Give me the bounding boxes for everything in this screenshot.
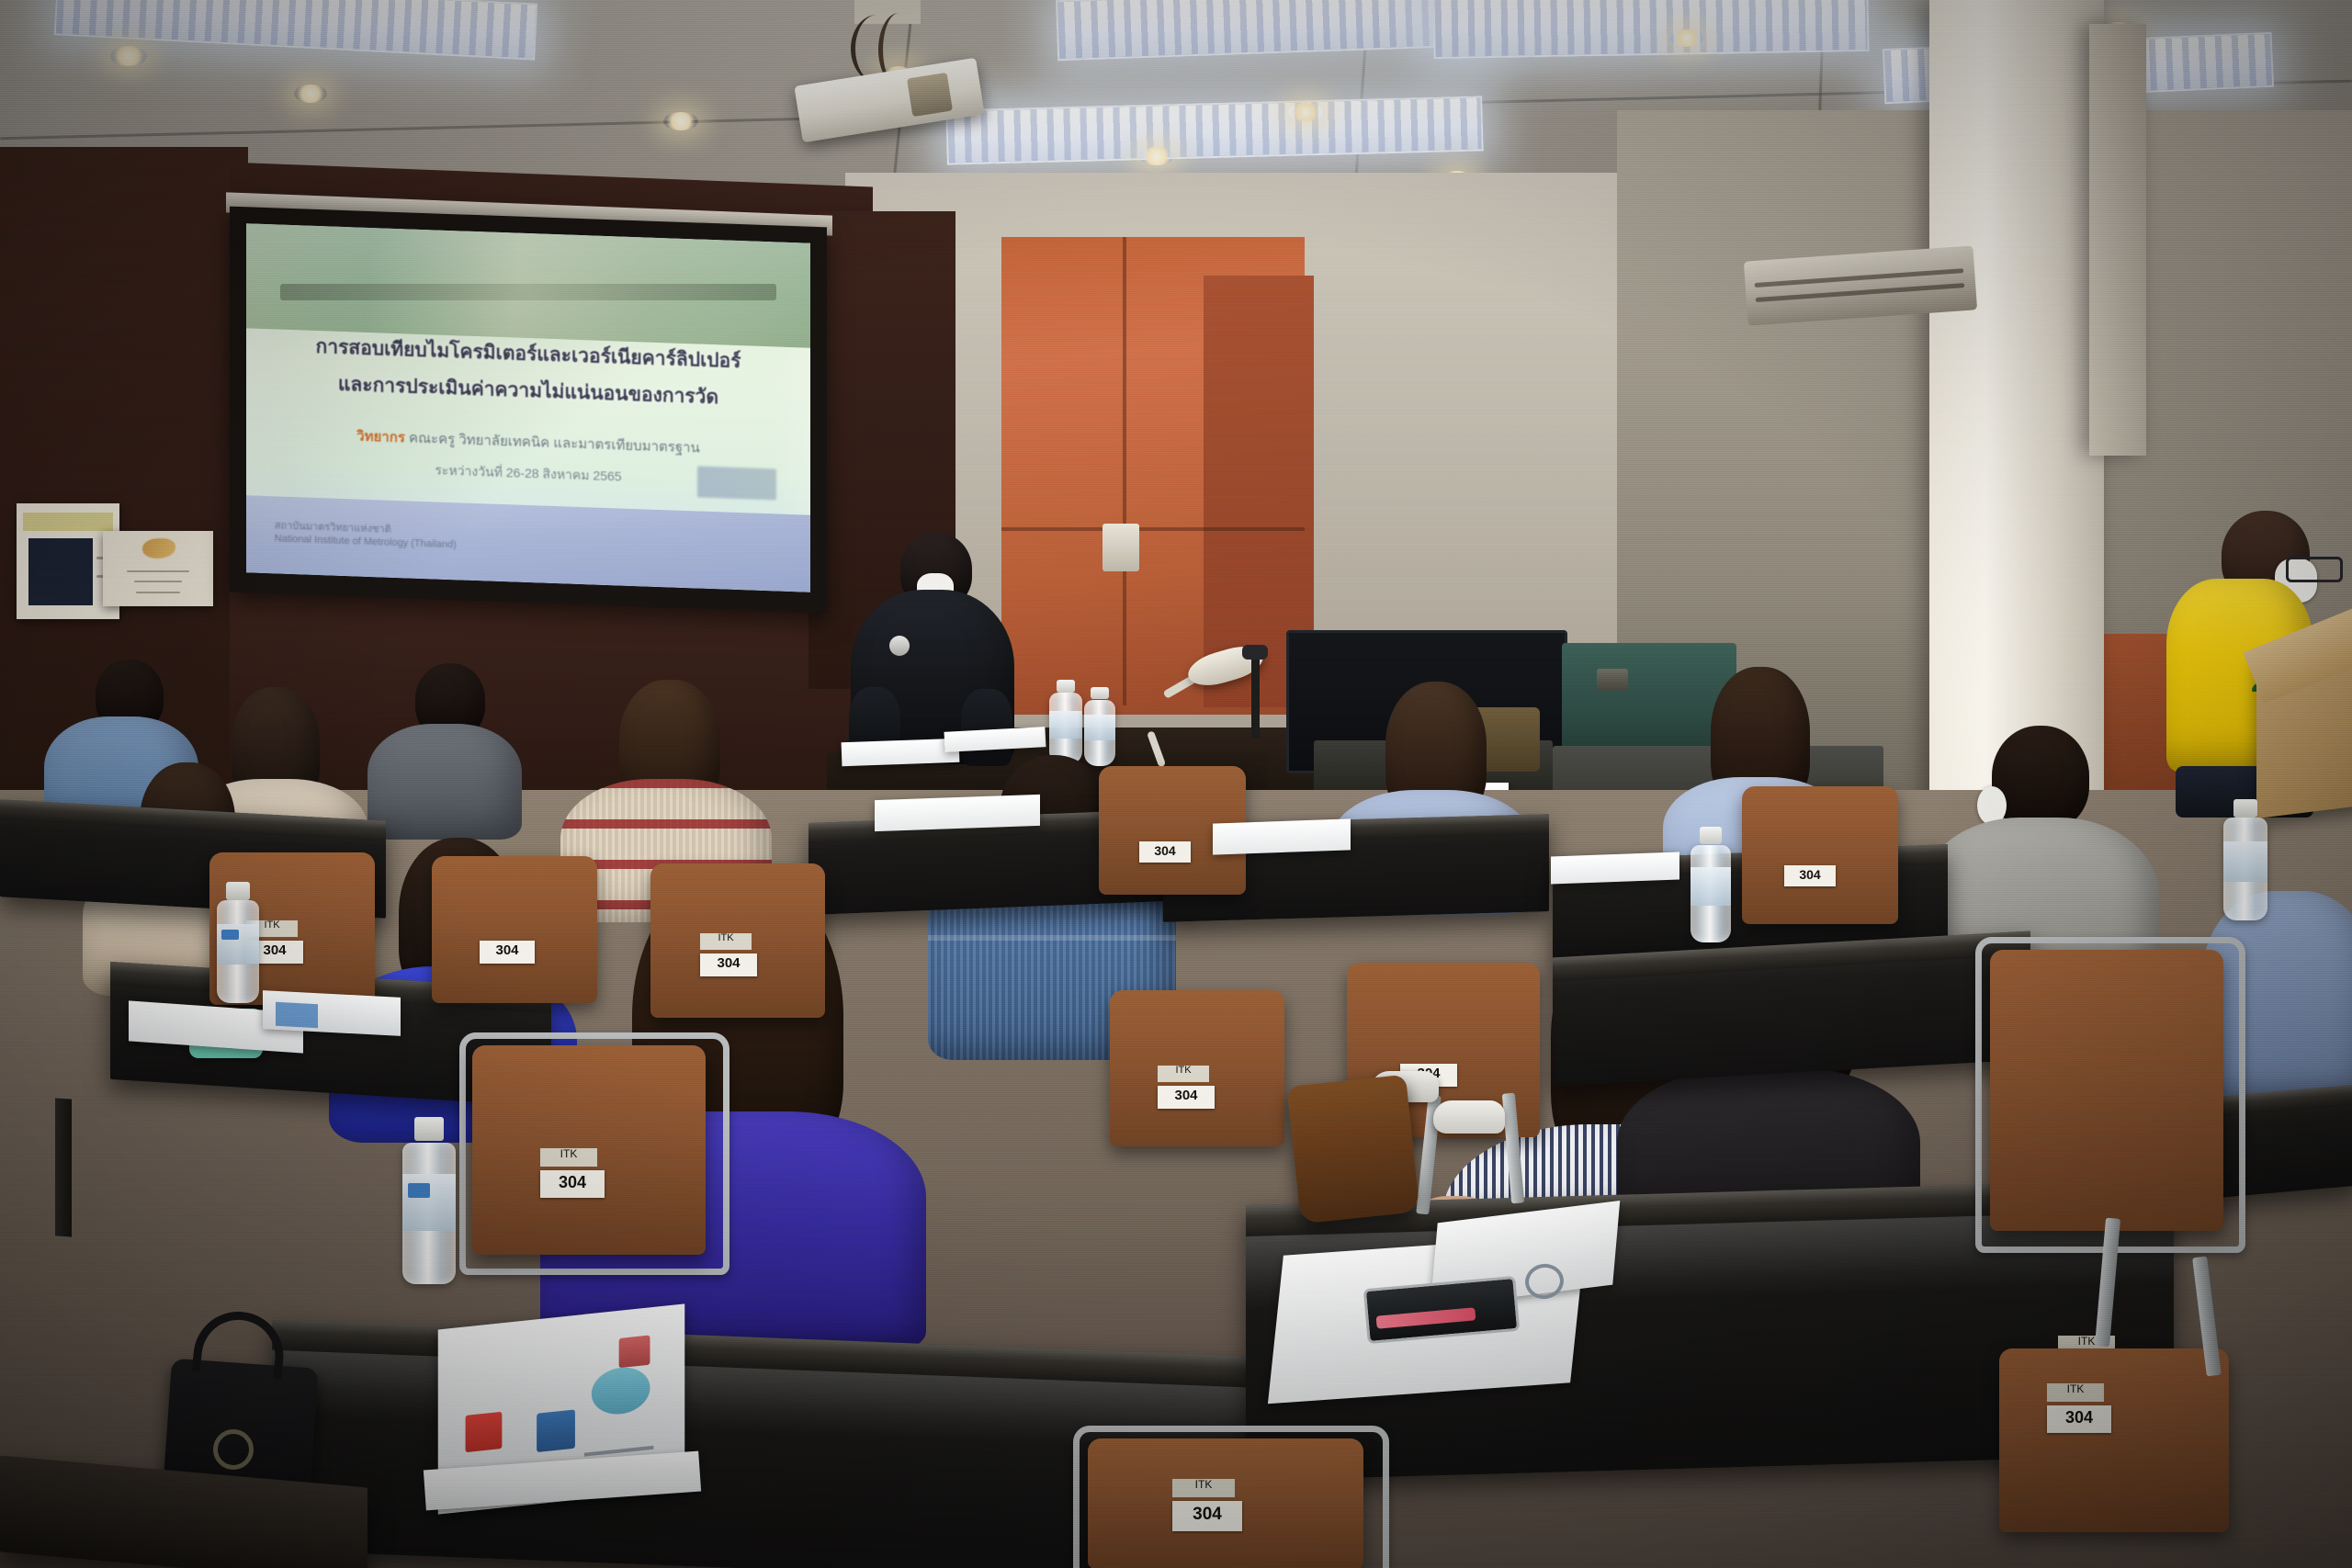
structural-column-edge [2089, 24, 2146, 456]
notebook-cover-accent [276, 1002, 318, 1028]
presenter-at-lectern [845, 533, 1020, 762]
staff-glasses-icon [2286, 557, 2343, 582]
wall-switch-box[interactable] [1102, 524, 1139, 571]
chair-tag-number: 304 [1784, 865, 1836, 886]
water-bottle[interactable] [1690, 827, 1731, 942]
projector-lens-housing [907, 73, 953, 117]
water-bottle[interactable] [402, 1117, 456, 1284]
attendee-head [1992, 726, 2089, 830]
water-bottle[interactable] [2223, 799, 2267, 920]
presenter-badge-icon [889, 636, 910, 656]
bottle-cap [226, 882, 250, 900]
water-bottle[interactable] [217, 882, 259, 1003]
bottle-label [1049, 711, 1082, 739]
desk-papers [875, 795, 1040, 831]
chair-tag-number: 304 [2047, 1405, 2111, 1433]
attendee-top [367, 724, 522, 840]
bottle-cap [2233, 799, 2258, 818]
panel-seam [1123, 237, 1126, 705]
chair-tag-number: 304 [1158, 1086, 1215, 1109]
notice-text-line [134, 581, 183, 582]
desk-papers [1213, 818, 1351, 854]
bottle-label-accent [408, 1183, 430, 1198]
handbook-logo-icon [537, 1409, 575, 1452]
ceiling-downlight [663, 112, 698, 130]
notice-photo [28, 538, 92, 605]
chair-tag-top: ITK [2047, 1383, 2104, 1402]
chair-front-center-right[interactable]: ITK 304 [1110, 990, 1284, 1146]
seminar-room-photo: การสอบเทียบไมโครมิเตอร์และเวอร์เนียคาร์ล… [0, 0, 2352, 1568]
bottle-cap [1700, 827, 1723, 844]
desk-papers [1551, 852, 1679, 885]
desk-mid-right [1553, 931, 2030, 1086]
chair-tag-top: ITK [1172, 1479, 1235, 1497]
chair-right[interactable]: ITK [1990, 950, 2223, 1231]
handbook-globe-icon [592, 1365, 650, 1417]
chair-mid-left[interactable]: ITK 304 [650, 863, 825, 1018]
ceiling-downlight [1288, 103, 1323, 121]
chair-tag-top: ITK [1158, 1066, 1209, 1082]
slide-header-photo [246, 223, 810, 347]
bottle-label [402, 1174, 456, 1231]
handbook-logo-icon [466, 1412, 503, 1452]
ceiling-light-panel [1432, 0, 1869, 59]
slide-speaker-detail: คณะครู วิทยาลัยเทคนิค และมาตรเทียบมาตรฐา… [409, 430, 700, 456]
ceiling-downlight [294, 85, 327, 103]
panel-seam [1001, 527, 1305, 531]
structural-column [1929, 0, 2104, 827]
slide-title-line-2: และการประเมินค่าความไม่แน่นอนของการวัด [246, 368, 810, 413]
chair-tag-number: 304 [540, 1170, 605, 1198]
chair-right-front[interactable]: ITK 304 [1999, 1348, 2229, 1532]
chair-tag-number: 304 [1139, 841, 1191, 863]
ceiling-downlight [1139, 147, 1174, 165]
notice-board-right [103, 531, 213, 606]
bottle-label [217, 924, 259, 964]
ceiling-downlight [1670, 29, 1703, 47]
bottle-cap [1057, 680, 1075, 693]
attendee-back-left-3 [367, 663, 524, 838]
chair-back-right[interactable]: 304 [1742, 786, 1898, 924]
handbook-logo-icon [619, 1335, 650, 1368]
water-bottle[interactable] [1049, 680, 1082, 764]
chair-tag-top: ITK [540, 1148, 597, 1167]
notice-text-line [136, 592, 180, 593]
notice-emblem-icon [142, 538, 175, 558]
chair-tag-number: 304 [1172, 1501, 1242, 1531]
ac-louver [1756, 283, 1965, 302]
notice-heading-band [23, 513, 114, 531]
desk-leg [55, 1098, 72, 1236]
bottle-label [1690, 867, 1731, 906]
microphone-head-icon [1242, 645, 1268, 660]
bottle-label [1084, 715, 1115, 740]
chair-front-left[interactable]: ITK 304 [472, 1045, 706, 1255]
projected-slide: การสอบเทียบไมโครมิเตอร์และเวอร์เนียคาร์ล… [246, 223, 810, 592]
chair-tag-number: 304 [480, 941, 535, 964]
slide-speaker-label: วิทยากร [356, 428, 405, 446]
chair-tag-number: 304 [700, 953, 757, 976]
microphone-stand [1251, 654, 1260, 739]
slide-org-logo-icon [697, 466, 776, 500]
bottle-label [2223, 841, 2267, 882]
shoe [1433, 1100, 1505, 1134]
brown-bag[interactable] [1287, 1075, 1420, 1224]
bottle-cap [414, 1117, 444, 1141]
rack-knob-icon [1597, 669, 1628, 691]
chair-tag-top: ITK [700, 933, 752, 950]
chair-foreground[interactable]: ITK 304 [1088, 1438, 1363, 1568]
bottle-cap [1091, 687, 1108, 699]
bottle-label-accent [221, 930, 239, 940]
denim-seam [928, 935, 1176, 941]
bag-buckle-icon [213, 1429, 254, 1470]
notice-text-line [127, 570, 188, 572]
ceiling-downlight [110, 46, 147, 66]
chair-back-left-2[interactable]: 304 [432, 856, 597, 1003]
